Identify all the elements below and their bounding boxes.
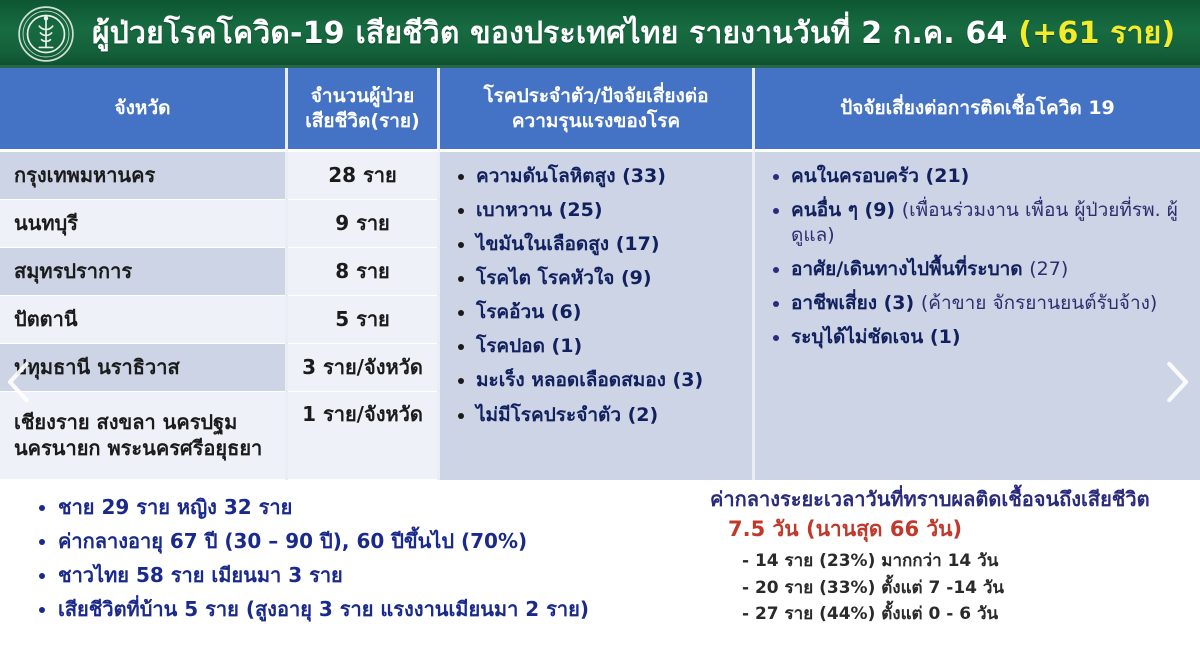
risk-label: คนอื่น ๆ (9) bbox=[791, 199, 902, 221]
list-item: โรคไต โรคหัวใจ (9) bbox=[454, 266, 742, 291]
list-item: ไม่มีโรคประจำตัว (2) bbox=[454, 403, 742, 428]
risk-label: อาชีพเสี่ยง (3) bbox=[791, 292, 921, 314]
list-item: อาชีพเสี่ยง (3) (ค้าขาย จักรยานยนต์รับจ้… bbox=[769, 291, 1190, 316]
table-row: สมุทรปราการ bbox=[0, 248, 285, 296]
time-to-death-title: ค่ากลางระยะเวลาวันที่ทราบผลติดเชื้อจนถึง… bbox=[700, 486, 1190, 512]
logo-container bbox=[0, 0, 92, 68]
table-cell-count: 3 ราย/จังหวัด bbox=[288, 344, 437, 392]
province-name: สมุทรปราการ bbox=[14, 259, 132, 285]
table-cell-count: 1 ราย/จังหวัด bbox=[288, 392, 437, 480]
deaths-table: จังหวัด กรุงเทพมหานคร นนทบุรี สมุทรปรากา… bbox=[0, 68, 1200, 480]
page-header: ผู้ป่วยโรคโควิด-19 เสียชีวิต ของประเทศไท… bbox=[0, 0, 1200, 68]
risk-factors-list: คนในครอบครัว (21) คนอื่น ๆ (9) (เพื่อนร่… bbox=[769, 164, 1190, 350]
risk-label: อาศัย/เดินทางไปพื้นที่ระบาด bbox=[791, 258, 1029, 280]
infographic-slide: ผู้ป่วยโรคโควิด-19 เสียชีวิต ของประเทศไท… bbox=[0, 0, 1200, 654]
column-header-death-count: จำนวนผู้ป่วย เสียชีวิต(ราย) bbox=[288, 68, 440, 152]
conditions-list: ความดันโลหิตสูง (33) เบาหวาน (25) ไขมันใ… bbox=[454, 164, 742, 428]
province-name-line1: เชียงราย สงขลา นครปฐม bbox=[14, 410, 262, 436]
table-row: เชียงราย สงขลา นครปฐม นครนายก พระนครศรีอ… bbox=[0, 392, 285, 480]
list-item: ชาย 29 ราย หญิง 32 ราย bbox=[34, 494, 700, 521]
page-title-main: ผู้ป่วยโรคโควิด-19 เสียชีวิต ของประเทศไท… bbox=[92, 16, 1018, 51]
list-item: มะเร็ง หลอดเลือดสมอง (3) bbox=[454, 368, 742, 393]
table-row: นนทบุรี bbox=[0, 200, 285, 248]
column-province: จังหวัด กรุงเทพมหานคร นนทบุรี สมุทรปรากา… bbox=[0, 68, 288, 480]
table-row: กรุงเทพมหานคร bbox=[0, 152, 285, 200]
column-header-conditions-line2: ความรุนแรงของโรค bbox=[483, 109, 708, 134]
table-cell-count: 5 ราย bbox=[288, 296, 437, 344]
province-name-multiline: เชียงราย สงขลา นครปฐม นครนายก พระนครศรีอ… bbox=[14, 410, 262, 461]
ministry-of-public-health-emblem-icon bbox=[18, 6, 74, 62]
list-item: อาศัย/เดินทางไปพื้นที่ระบาด (27) bbox=[769, 257, 1190, 282]
column-underlying-conditions: โรคประจำตัว/ปัจจัยเสี่ยงต่อ ความรุนแรงขอ… bbox=[440, 68, 755, 480]
table-cell-count: 9 ราย bbox=[288, 200, 437, 248]
column-header-underlying-conditions: โรคประจำตัว/ปัจจัยเสี่ยงต่อ ความรุนแรงขอ… bbox=[440, 68, 755, 152]
risk-detail: (ค้าขาย จักรยานยนต์รับจ้าง) bbox=[921, 292, 1157, 314]
list-item: - 14 ราย (23%) มากกว่า 14 วัน bbox=[742, 548, 1190, 574]
demographics-summary: ชาย 29 ราย หญิง 32 ราย ค่ากลางอายุ 67 ปี… bbox=[0, 480, 700, 654]
list-item: เสียชีวิตที่บ้าน 5 ราย (สูงอายุ 3 ราย แร… bbox=[34, 596, 700, 623]
table-cell-count: 28 ราย bbox=[288, 152, 437, 200]
province-name: กรุงเทพมหานคร bbox=[14, 163, 155, 189]
province-name: ปทุมธานี นราธิวาส bbox=[14, 355, 180, 381]
risk-detail: (27) bbox=[1029, 258, 1068, 280]
list-item: - 20 ราย (33%) ตั้งแต่ 7 -14 วัน bbox=[742, 575, 1190, 601]
list-item: ไขมันในเลือดสูง (17) bbox=[454, 232, 742, 257]
list-item: ชาวไทย 58 ราย เมียนมา 3 ราย bbox=[34, 562, 700, 589]
column-body-underlying-conditions: ความดันโลหิตสูง (33) เบาหวาน (25) ไขมันใ… bbox=[440, 152, 755, 480]
time-to-death-breakdown: - 14 ราย (23%) มากกว่า 14 วัน - 20 ราย (… bbox=[700, 548, 1190, 627]
page-title-accent: (+61 ราย) bbox=[1018, 16, 1175, 51]
column-header-province: จังหวัด bbox=[0, 68, 288, 152]
list-item: ความดันโลหิตสูง (33) bbox=[454, 164, 742, 189]
column-header-death-count-line1: จำนวนผู้ป่วย bbox=[305, 84, 420, 109]
summary-footer: ชาย 29 ราย หญิง 32 ราย ค่ากลางอายุ 67 ปี… bbox=[0, 480, 1200, 654]
risk-label: ระบุได้ไม่ชัดเจน (1) bbox=[791, 326, 961, 348]
chevron-right-icon[interactable] bbox=[1160, 360, 1194, 404]
demographics-list: ชาย 29 ราย หญิง 32 ราย ค่ากลางอายุ 67 ปี… bbox=[34, 494, 700, 623]
list-item: ค่ากลางอายุ 67 ปี (30 – 90 ปี), 60 ปีขึ้… bbox=[34, 528, 700, 555]
list-item: - 27 ราย (44%) ตั้งแต่ 0 - 6 วัน bbox=[742, 601, 1190, 627]
column-body-province: กรุงเทพมหานคร นนทบุรี สมุทรปราการ ปัตตาน… bbox=[0, 152, 288, 480]
list-item: คนอื่น ๆ (9) (เพื่อนร่วมงาน เพื่อน ผู้ป่… bbox=[769, 198, 1190, 248]
time-to-death-value: 7.5 วัน (นานสุด 66 วัน) bbox=[700, 515, 1190, 543]
province-name-line2: นครนายก พระนครศรีอยุธยา bbox=[14, 436, 262, 462]
risk-label: คนในครอบครัว (21) bbox=[791, 165, 969, 187]
column-death-count: จำนวนผู้ป่วย เสียชีวิต(ราย) 28 ราย 9 ราย… bbox=[288, 68, 440, 480]
column-body-infection-risk-factors: คนในครอบครัว (21) คนอื่น ๆ (9) (เพื่อนร่… bbox=[755, 152, 1200, 480]
column-header-infection-risk-factors: ปัจจัยเสี่ยงต่อการติดเชื้อโควิด 19 bbox=[755, 68, 1200, 152]
page-title: ผู้ป่วยโรคโควิด-19 เสียชีวิต ของประเทศไท… bbox=[92, 18, 1200, 50]
list-item: โรคอ้วน (6) bbox=[454, 300, 742, 325]
column-header-death-count-line2: เสียชีวิต(ราย) bbox=[305, 109, 420, 134]
table-row: ปทุมธานี นราธิวาส bbox=[0, 344, 285, 392]
list-item: โรคปอด (1) bbox=[454, 334, 742, 359]
column-body-death-count: 28 ราย 9 ราย 8 ราย 5 ราย 3 ราย/จังหวัด 1… bbox=[288, 152, 440, 480]
province-name: ปัตตานี bbox=[14, 307, 78, 333]
table-cell-count: 8 ราย bbox=[288, 248, 437, 296]
province-name: นนทบุรี bbox=[14, 211, 78, 237]
list-item: คนในครอบครัว (21) bbox=[769, 164, 1190, 189]
time-to-death-summary: ค่ากลางระยะเวลาวันที่ทราบผลติดเชื้อจนถึง… bbox=[700, 480, 1200, 654]
column-header-conditions-line1: โรคประจำตัว/ปัจจัยเสี่ยงต่อ bbox=[483, 84, 708, 109]
list-item: เบาหวาน (25) bbox=[454, 198, 742, 223]
list-item: ระบุได้ไม่ชัดเจน (1) bbox=[769, 325, 1190, 350]
chevron-left-icon[interactable] bbox=[2, 360, 36, 404]
column-infection-risk-factors: ปัจจัยเสี่ยงต่อการติดเชื้อโควิด 19 คนในค… bbox=[755, 68, 1200, 480]
table-row: ปัตตานี bbox=[0, 296, 285, 344]
